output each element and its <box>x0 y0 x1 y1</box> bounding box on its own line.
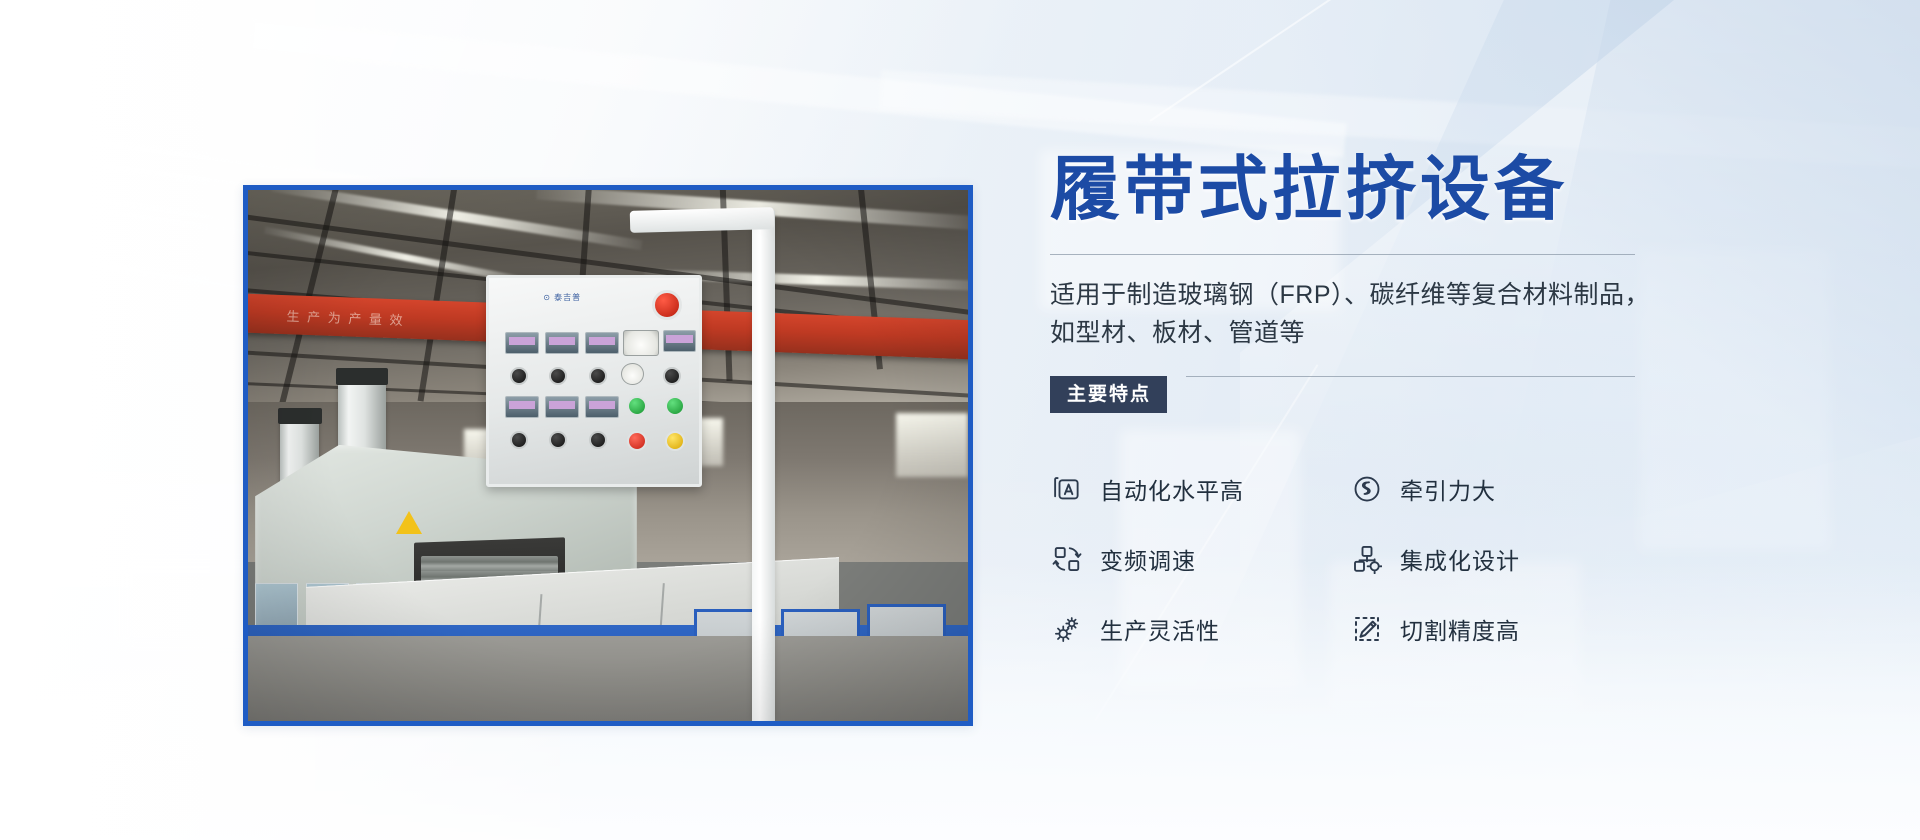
gears-icon <box>1050 612 1084 646</box>
title-divider <box>1050 254 1635 255</box>
photo-vignette <box>248 190 968 721</box>
feature-label: 牵引力大 <box>1400 472 1496 506</box>
feature-label: 生产灵活性 <box>1100 612 1220 646</box>
traction-waves-icon <box>1350 472 1384 506</box>
feature-item-precision[interactable]: 切割精度高 <box>1350 608 1650 650</box>
status-badge: 主要特点 <box>1050 376 1167 413</box>
feature-label: 自动化水平高 <box>1100 472 1244 506</box>
product-hero-banner: 生 产 为 产 量 效 <box>0 0 1920 840</box>
frequency-scan-icon <box>1050 542 1084 576</box>
hero-content: 履带式拉挤设备 适用于制造玻璃钢（FRP）、碳纤维等复合材料制品，如型材、板材、… <box>1050 150 1690 650</box>
hero-subtitle: 适用于制造玻璃钢（FRP）、碳纤维等复合材料制品，如型材、板材、管道等 <box>1050 277 1650 352</box>
feature-item-integration[interactable]: 集成化设计 <box>1350 538 1650 580</box>
feature-list: 自动化水平高 牵引力大 <box>1050 468 1690 650</box>
feature-item-flexibility[interactable]: 生产灵活性 <box>1050 608 1350 650</box>
feature-label: 变频调速 <box>1100 542 1196 576</box>
product-photo: 生 产 为 产 量 效 <box>248 190 968 721</box>
features-heading-row: 主要特点 <box>1050 376 1690 412</box>
badge-divider <box>1186 376 1635 377</box>
feature-item-traction[interactable]: 牵引力大 <box>1350 468 1650 510</box>
integration-node-icon <box>1350 542 1384 576</box>
precision-pen-icon <box>1350 612 1384 646</box>
page-title: 履带式拉挤设备 <box>1050 150 1690 228</box>
text-box-a-icon <box>1050 472 1084 506</box>
feature-label: 切割精度高 <box>1400 612 1520 646</box>
feature-label: 集成化设计 <box>1400 542 1520 576</box>
product-photo-frame[interactable]: 生 产 为 产 量 效 <box>243 185 973 726</box>
feature-item-frequency[interactable]: 变频调速 <box>1050 538 1350 580</box>
feature-item-automation[interactable]: 自动化水平高 <box>1050 468 1350 510</box>
